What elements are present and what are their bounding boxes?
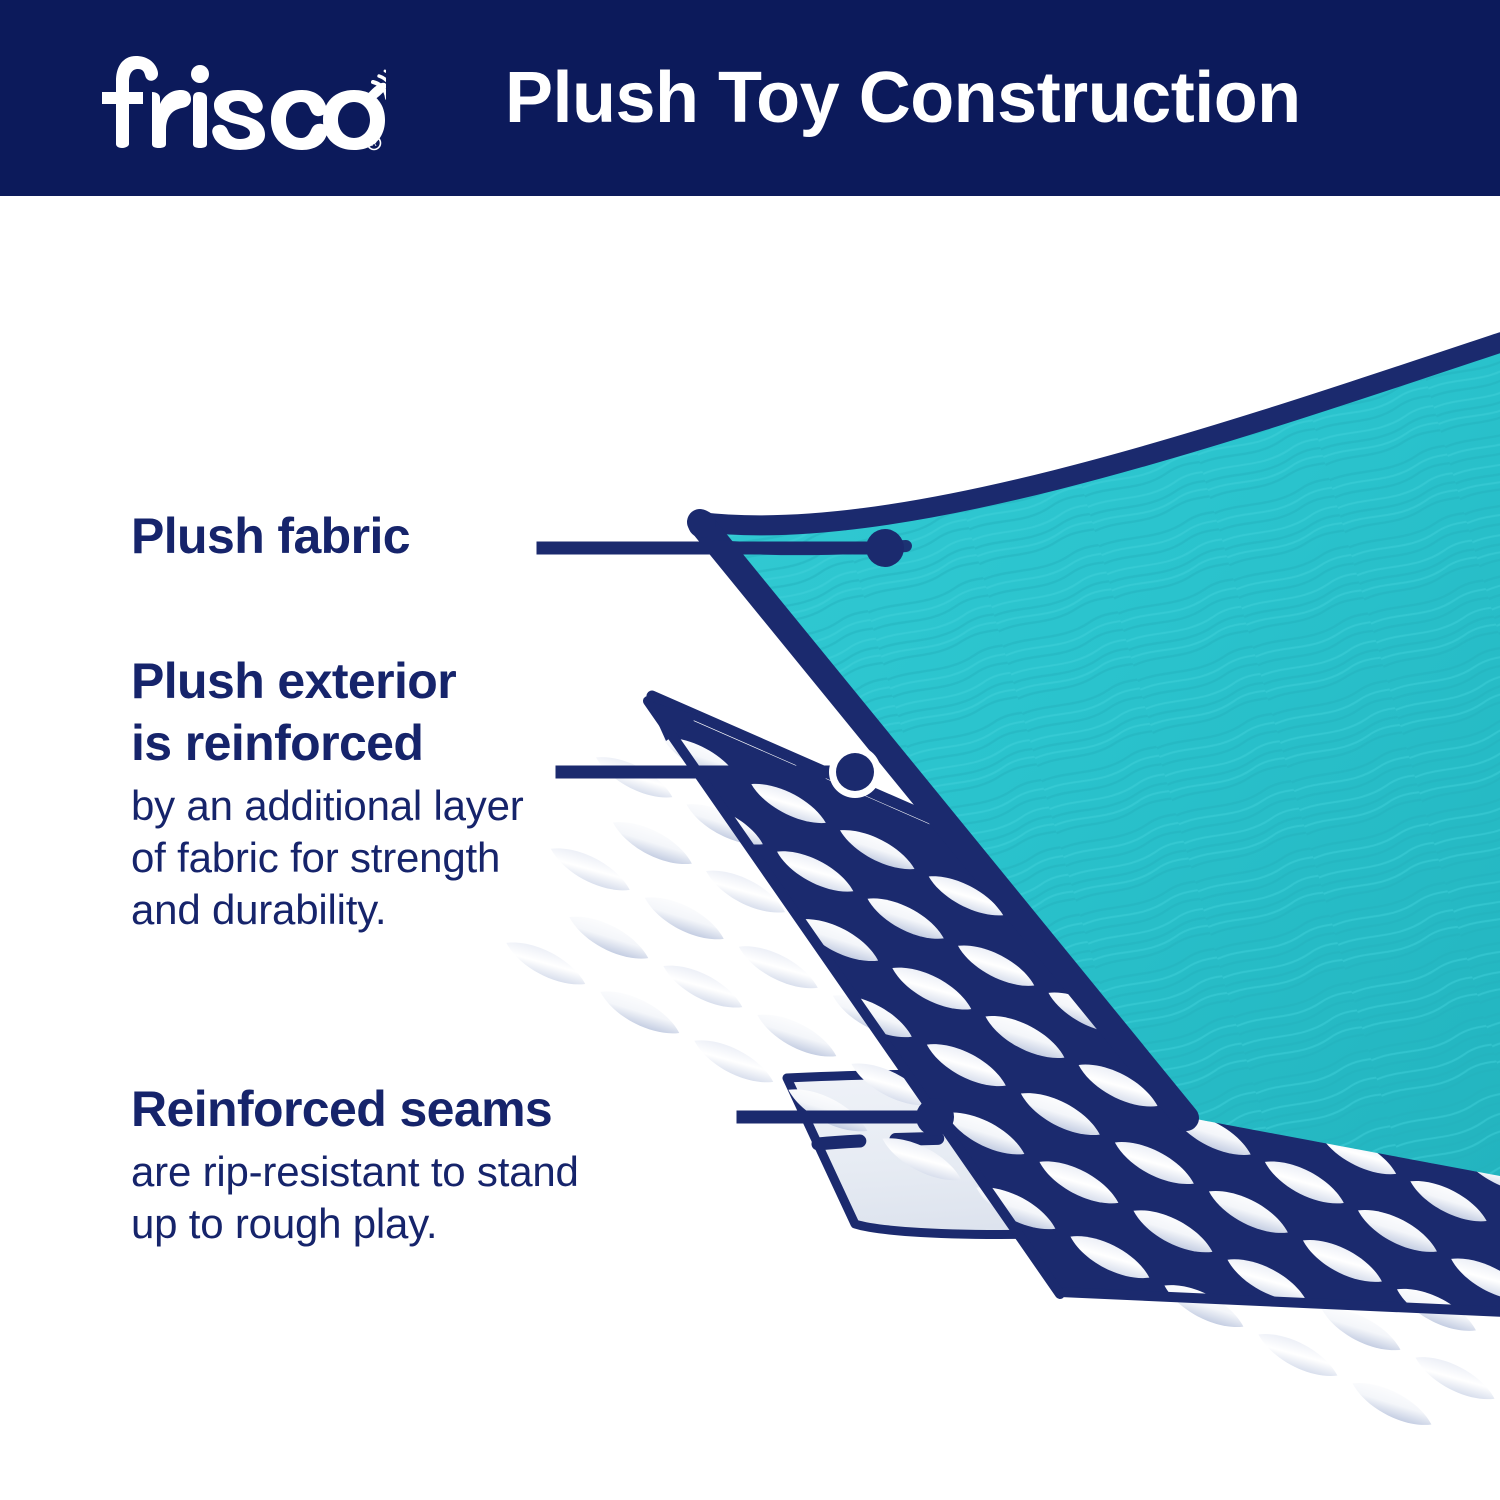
callout-reinforced-seams: Reinforced seams are rip-resistant to st… [131, 1078, 791, 1250]
leader-dot-reinforced-seams [916, 1098, 954, 1136]
frisco-logo: R [86, 52, 386, 152]
frisco-wordmark-icon: R [86, 52, 386, 152]
svg-text:R: R [371, 139, 377, 148]
infographic-page: R Plush Toy Construction [0, 0, 1500, 1500]
callout-heading-plush-fabric: Plush fabric [131, 505, 561, 567]
callout-body-reinforced-seams: are rip-resistant to stand up to rough p… [131, 1146, 791, 1250]
callout-heading-plush-exterior: Plush exterior is reinforced [131, 650, 731, 774]
callout-plush-fabric: Plush fabric [131, 505, 561, 567]
page-title: Plush Toy Construction [505, 50, 1405, 146]
leader-dot-plush-fabric [866, 529, 904, 567]
page-header: R Plush Toy Construction [0, 0, 1500, 196]
callout-body-plush-exterior: by an additional layer of fabric for str… [131, 780, 731, 936]
leader-dot-plush-exterior [836, 753, 874, 791]
callout-heading-reinforced-seams: Reinforced seams [131, 1078, 791, 1140]
callout-plush-exterior: Plush exterior is reinforced by an addit… [131, 650, 731, 936]
